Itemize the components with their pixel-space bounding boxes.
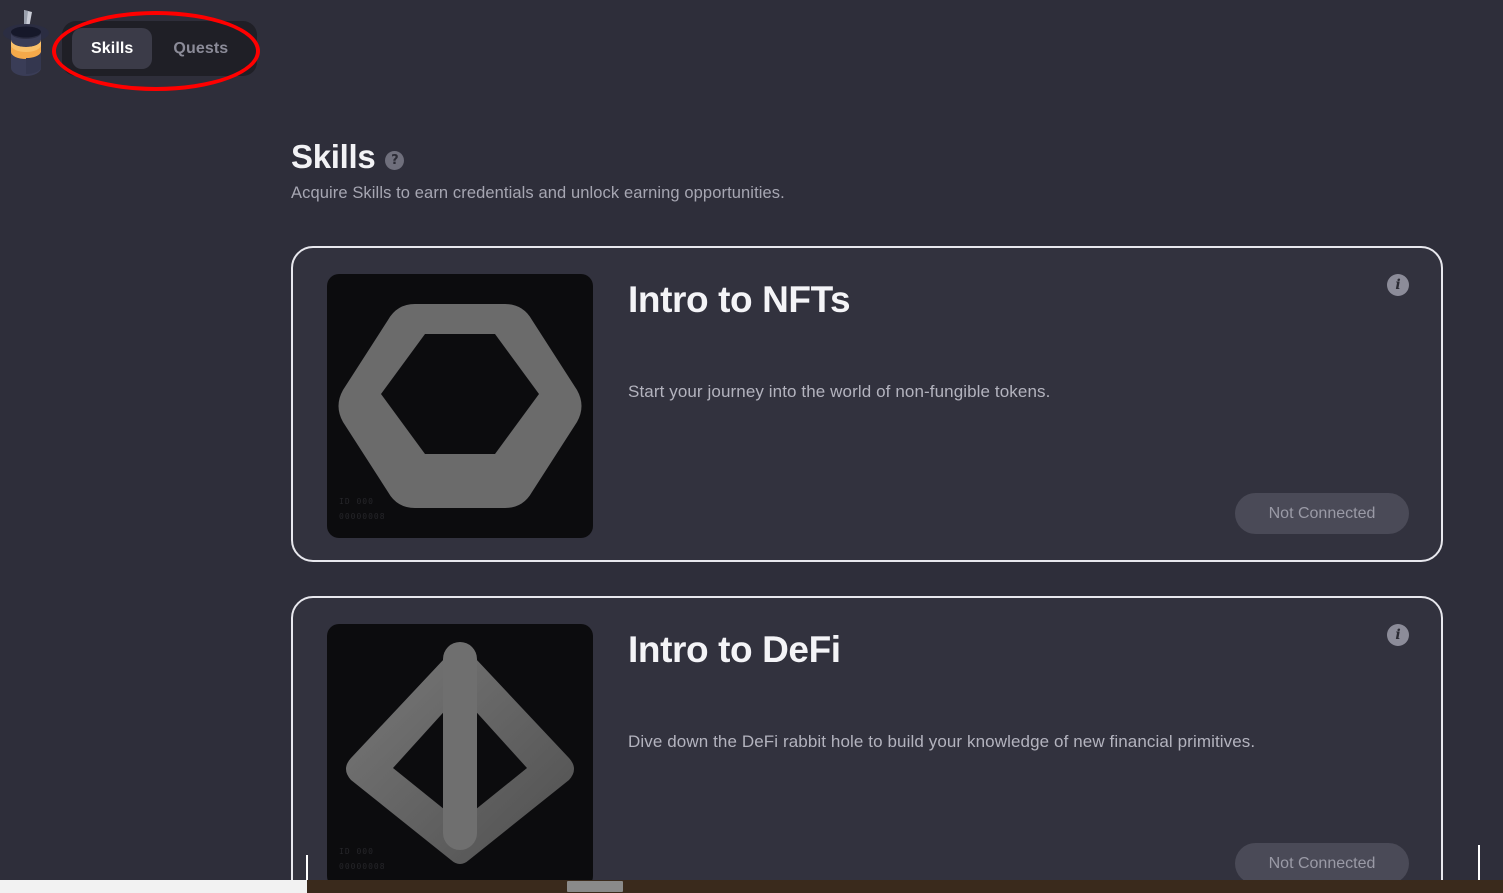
page-title: Skills [291,140,375,175]
skill-thumbnail: ID 000 00000008 [327,274,593,538]
page-heading: Skills ? Acquire Skills to earn credenti… [291,140,1191,203]
thumbnail-meta-line-2: 00000008 [339,859,386,874]
status-badge-not-connected[interactable]: Not Connected [1235,493,1409,534]
tab-skills-label: Skills [91,40,133,58]
info-circle-icon[interactable]: i [1387,624,1409,646]
skill-card[interactable]: ID 000 00000008 Intro to DeFi Dive down … [291,596,1443,893]
skill-card-body: Intro to NFTs Start your journey into th… [593,274,1409,534]
tab-skills[interactable]: Skills [72,28,152,69]
scrollbar-track-left [0,880,307,893]
thumbnail-meta-line-1: ID 000 [339,494,386,509]
top-bar: Skills Quests [0,0,1503,95]
page-title-row: Skills ? [291,140,1191,175]
skill-card-body: Intro to DeFi Dive down the DeFi rabbit … [593,624,1409,884]
info-circle-icon[interactable]: i [1387,274,1409,296]
thumbnail-metadata: ID 000 00000008 [339,494,386,524]
thumbnail-metadata: ID 000 00000008 [339,844,386,874]
skill-card-inner: ID 000 00000008 Intro to DeFi Dive down … [293,598,1441,893]
tab-quests[interactable]: Quests [154,28,247,69]
tab-bar: Skills Quests [62,21,257,76]
skill-card[interactable]: ID 000 00000008 Intro to NFTs Start your… [291,246,1443,562]
app-root: Skills Quests Skills ? Acquire Skills to… [0,0,1503,893]
skill-card-inner: ID 000 00000008 Intro to NFTs Start your… [293,248,1441,560]
skill-thumbnail: ID 000 00000008 [327,624,593,888]
tab-quests-label: Quests [173,40,228,58]
skill-title: Intro to NFTs [628,280,1409,321]
scrollbar-thumb[interactable] [567,881,623,892]
question-mark-circle-icon[interactable]: ? [385,151,404,170]
skill-description: Start your journey into the world of non… [628,382,1050,402]
skill-title: Intro to DeFi [628,630,1409,671]
magician-top-hat-icon[interactable] [2,6,50,80]
skill-description: Dive down the DeFi rabbit hole to build … [628,732,1255,752]
thumbnail-meta-line-1: ID 000 [339,844,386,859]
status-badge-not-connected[interactable]: Not Connected [1235,843,1409,884]
thumbnail-meta-line-2: 00000008 [339,509,386,524]
horizontal-scrollbar[interactable] [0,880,1503,893]
page-subtitle: Acquire Skills to earn credentials and u… [291,184,1191,203]
